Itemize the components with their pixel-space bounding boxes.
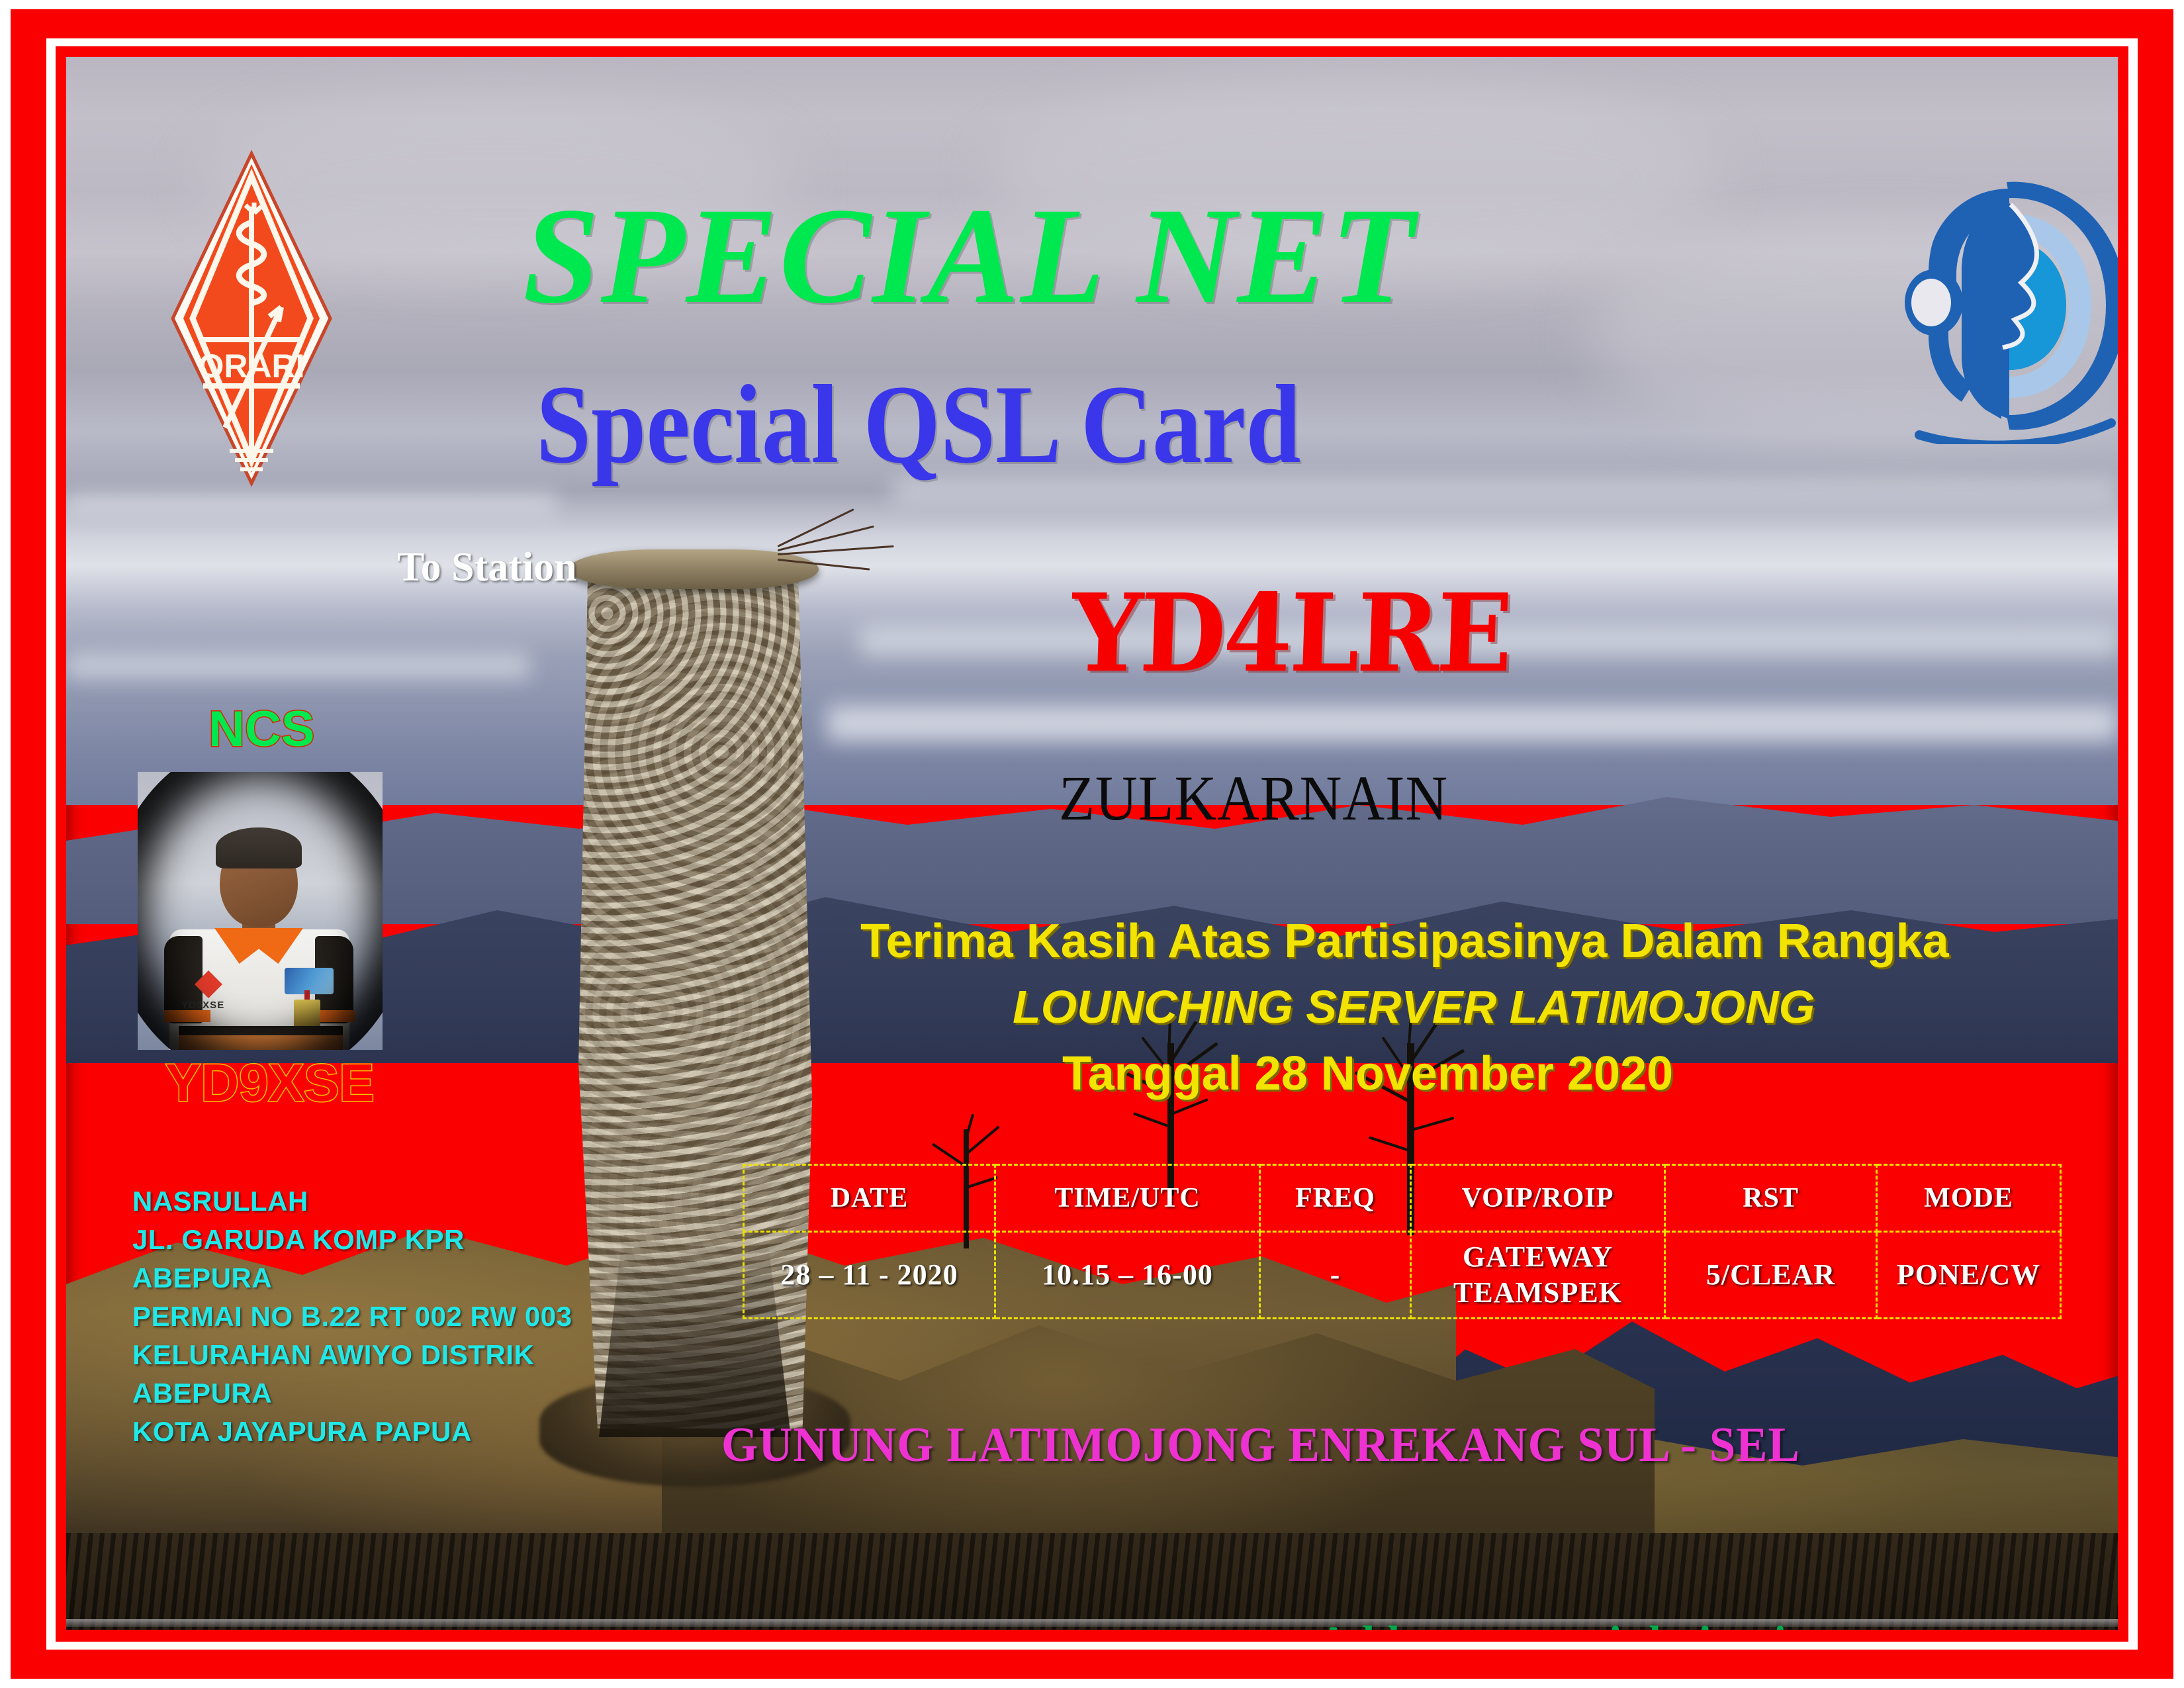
cairn-twigs <box>778 526 976 579</box>
table-row: 28 – 11 - 2020 10.15 – 16-00 - GATEWAY T… <box>744 1232 2061 1319</box>
slogan-text: "AMATIR RADIO ADALAH PROGRESIVE" <box>149 1623 1019 1630</box>
orari-logo-text: ORARI <box>198 348 304 385</box>
table-header-freq: FREQ <box>1260 1165 1411 1232</box>
photo-vignette <box>138 772 383 1050</box>
table-header-mode: MODE <box>1877 1165 2061 1232</box>
address-line: ABEPURA <box>132 1259 702 1297</box>
to-station-label: To Station <box>397 547 577 588</box>
recipient-callsign: YD4LRE <box>1070 580 1512 687</box>
table-header-rst: RST <box>1665 1165 1877 1232</box>
address-line: KELURAHAN AWIYO DISTRIK <box>132 1336 702 1374</box>
ncs-operator-photo: YD9XSE <box>138 772 383 1050</box>
qso-log-table: DATE TIME/UTC FREQ VOIP/ROIP RST MODE 28… <box>743 1164 2062 1319</box>
address-line: ABEPURA <box>132 1374 702 1413</box>
thanks-line: Terima Kasih Atas Partisipasinya Dalam R… <box>860 917 1949 965</box>
page-subtitle-special-qsl-card: Special QSL Card <box>536 368 1300 481</box>
cell-voip: GATEWAY TEAMSPEK <box>1411 1232 1665 1319</box>
table-header-date: DATE <box>744 1165 995 1232</box>
cell-freq: - <box>1260 1232 1411 1319</box>
background-photograph: SPECIAL NET Special QSL Card To Station … <box>66 57 2118 1630</box>
web-address-line: Address : amatir.latimojong.com <box>1317 1619 1948 1630</box>
cell-rst: 5/CLEAR <box>1665 1232 1877 1319</box>
event-date-line: Tanggal 28 November 2020 <box>1062 1050 1673 1098</box>
location-line: GUNUNG LATIMOJONG ENREKANG SUL - SEL <box>721 1421 1800 1470</box>
cloud-streak <box>66 653 529 679</box>
address-line: PERMAI NO B.22 RT 002 RW 003 <box>132 1297 702 1336</box>
recipient-operator-name: ZULKARNAIN <box>1059 767 1448 830</box>
address-line: JL. GARUDA KOMP KPR <box>132 1221 702 1259</box>
cloud-streak <box>66 494 556 514</box>
event-line: LOUNCHING SERVER LATIMOJONG <box>1013 984 1815 1030</box>
cell-mode: PONE/CW <box>1877 1232 2061 1319</box>
ncs-postal-address: NASRULLAH JL. GARUDA KOMP KPR ABEPURA PE… <box>132 1182 702 1451</box>
page-title-special-net: SPECIAL NET <box>523 187 1416 324</box>
ncs-role-label: NCS <box>208 704 314 755</box>
cloud-streak <box>827 706 2118 741</box>
cell-voip-line1: GATEWAY <box>1463 1241 1613 1273</box>
orari-diamond-icon: ORARI <box>169 150 334 487</box>
ncs-callsign: YD9XSE <box>165 1056 375 1109</box>
headset-profile-icon <box>1893 166 2118 444</box>
cell-date: 28 – 11 - 2020 <box>744 1232 995 1319</box>
table-header-voip: VOIP/ROIP <box>1411 1165 1665 1232</box>
address-line: KOTA JAYAPURA PAPUA <box>132 1413 702 1451</box>
dark-foreground-strip <box>66 1533 2118 1630</box>
qsl-card: SPECIAL NET Special QSL Card To Station … <box>0 0 2184 1688</box>
cell-time: 10.15 – 16-00 <box>995 1232 1260 1319</box>
table-header-time: TIME/UTC <box>995 1165 1260 1232</box>
voip-logo <box>1893 166 2118 444</box>
table-header-row: DATE TIME/UTC FREQ VOIP/ROIP RST MODE <box>744 1165 2061 1232</box>
cell-voip-line2: TEAMSPEK <box>1453 1276 1622 1309</box>
orari-logo: ORARI <box>169 150 334 487</box>
address-line: NASRULLAH <box>132 1182 702 1221</box>
